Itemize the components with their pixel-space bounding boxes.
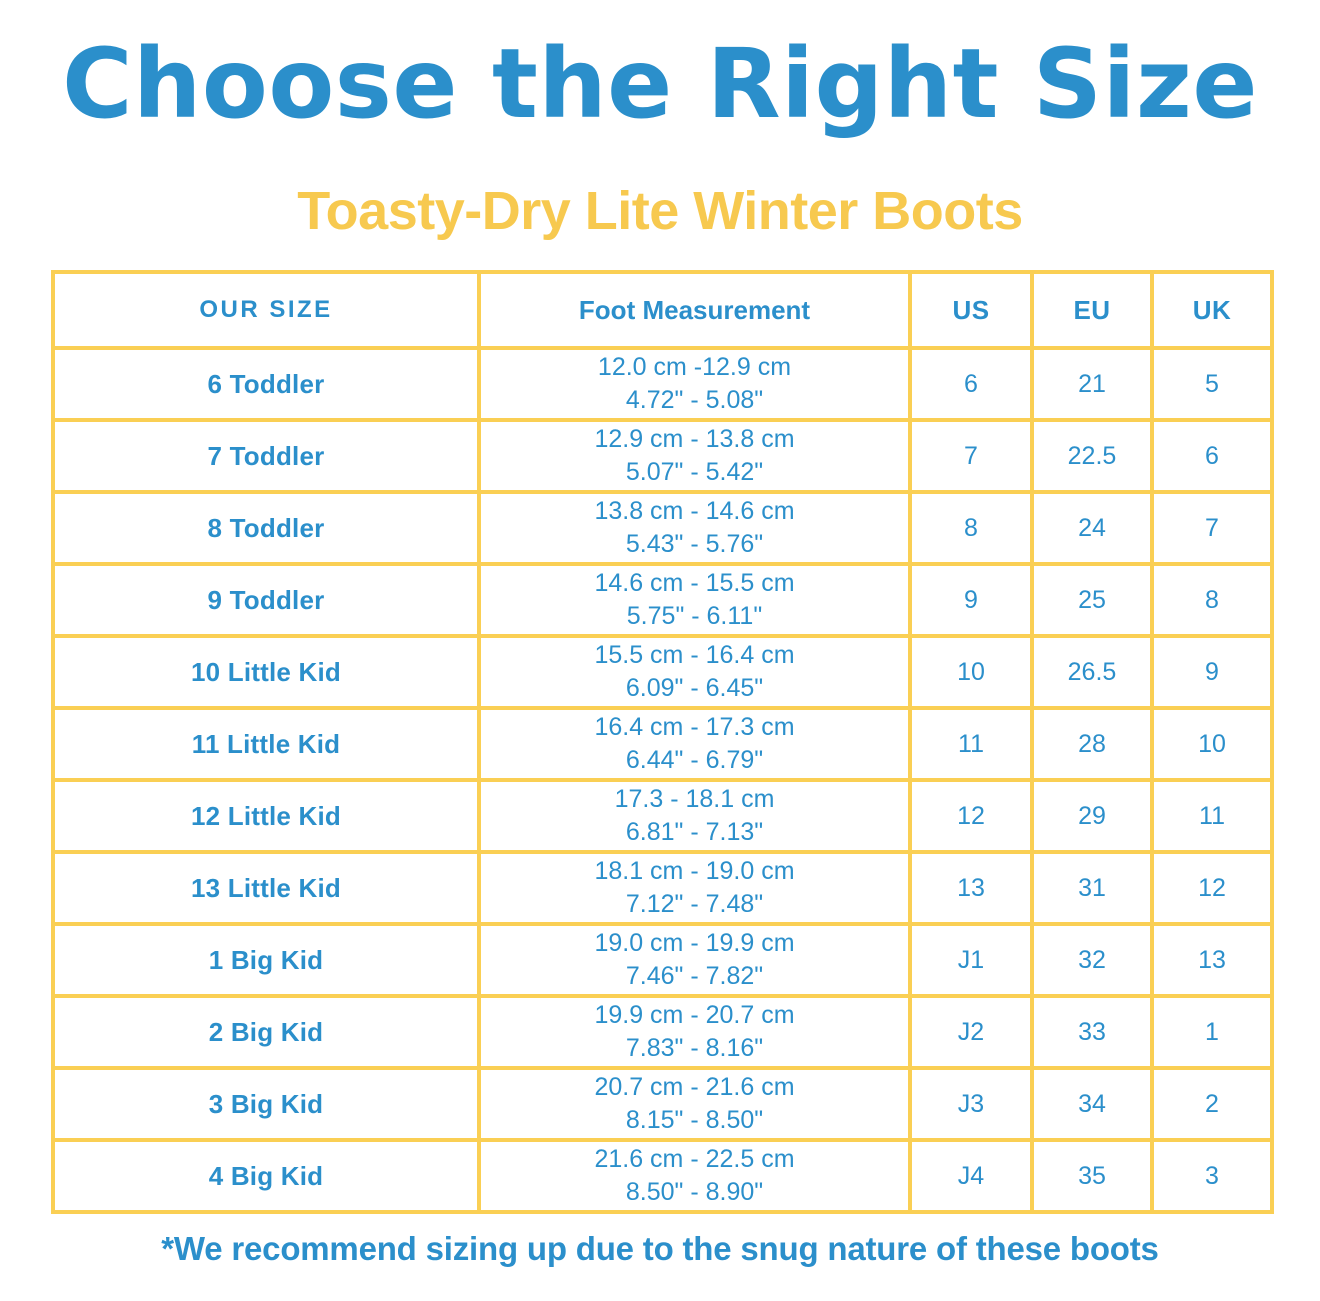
cell-eu-size: 29 xyxy=(1032,780,1152,852)
cell-our-size: 9 Toddler xyxy=(53,564,479,636)
foot-measurement-inches: 6.81" - 7.13" xyxy=(481,816,908,849)
table-row: 9 Toddler14.6 cm - 15.5 cm5.75" - 6.11"9… xyxy=(53,564,1272,636)
cell-our-size: 8 Toddler xyxy=(53,492,479,564)
cell-us-size: 8 xyxy=(910,492,1032,564)
cell-us-size: J2 xyxy=(910,996,1032,1068)
cell-foot-measurement: 19.9 cm - 20.7 cm7.83" - 8.16" xyxy=(479,996,910,1068)
cell-eu-size: 22.5 xyxy=(1032,420,1152,492)
cell-eu-size: 25 xyxy=(1032,564,1152,636)
cell-uk-size: 12 xyxy=(1152,852,1272,924)
cell-foot-measurement: 14.6 cm - 15.5 cm5.75" - 6.11" xyxy=(479,564,910,636)
foot-measurement-cm: 12.9 cm - 13.8 cm xyxy=(481,423,908,456)
foot-measurement-inches: 4.72" - 5.08" xyxy=(481,384,908,417)
cell-us-size: 6 xyxy=(910,348,1032,420)
cell-uk-size: 9 xyxy=(1152,636,1272,708)
product-subtitle: Toasty-Dry Lite Winter Boots xyxy=(0,180,1320,242)
foot-measurement-inches: 7.12" - 7.48" xyxy=(481,888,908,921)
column-header-our-size: OUR SIZE xyxy=(53,272,479,348)
column-header-us: US xyxy=(910,272,1032,348)
cell-uk-size: 2 xyxy=(1152,1068,1272,1140)
table-header: OUR SIZE Foot Measurement US EU UK xyxy=(53,272,1272,348)
cell-foot-measurement: 19.0 cm - 19.9 cm7.46" - 7.82" xyxy=(479,924,910,996)
cell-us-size: 11 xyxy=(910,708,1032,780)
cell-eu-size: 28 xyxy=(1032,708,1152,780)
cell-foot-measurement: 16.4 cm - 17.3 cm6.44" - 6.79" xyxy=(479,708,910,780)
table-header-row: OUR SIZE Foot Measurement US EU UK xyxy=(53,272,1272,348)
foot-measurement-cm: 21.6 cm - 22.5 cm xyxy=(481,1143,908,1176)
foot-measurement-cm: 18.1 cm - 19.0 cm xyxy=(481,855,908,888)
cell-eu-size: 35 xyxy=(1032,1140,1152,1212)
cell-us-size: J3 xyxy=(910,1068,1032,1140)
cell-our-size: 6 Toddler xyxy=(53,348,479,420)
foot-measurement-cm: 14.6 cm - 15.5 cm xyxy=(481,567,908,600)
cell-us-size: J4 xyxy=(910,1140,1032,1212)
column-header-uk: UK xyxy=(1152,272,1272,348)
table-row: 8 Toddler13.8 cm - 14.6 cm5.43" - 5.76"8… xyxy=(53,492,1272,564)
foot-measurement-cm: 19.0 cm - 19.9 cm xyxy=(481,927,908,960)
foot-measurement-cm: 13.8 cm - 14.6 cm xyxy=(481,495,908,528)
page-title: Choose the Right Size xyxy=(0,28,1320,140)
cell-us-size: 13 xyxy=(910,852,1032,924)
column-header-foot-measurement: Foot Measurement xyxy=(479,272,910,348)
table-row: 10 Little Kid15.5 cm - 16.4 cm6.09" - 6.… xyxy=(53,636,1272,708)
foot-measurement-inches: 7.83" - 8.16" xyxy=(481,1032,908,1065)
cell-our-size: 1 Big Kid xyxy=(53,924,479,996)
foot-measurement-inches: 5.07" - 5.42" xyxy=(481,456,908,489)
foot-measurement-cm: 12.0 cm -12.9 cm xyxy=(481,351,908,384)
cell-our-size: 11 Little Kid xyxy=(53,708,479,780)
foot-measurement-inches: 7.46" - 7.82" xyxy=(481,960,908,993)
cell-our-size: 4 Big Kid xyxy=(53,1140,479,1212)
cell-uk-size: 8 xyxy=(1152,564,1272,636)
table-row: 13 Little Kid18.1 cm - 19.0 cm7.12" - 7.… xyxy=(53,852,1272,924)
cell-uk-size: 6 xyxy=(1152,420,1272,492)
cell-eu-size: 26.5 xyxy=(1032,636,1152,708)
table-row: 4 Big Kid21.6 cm - 22.5 cm8.50" - 8.90"J… xyxy=(53,1140,1272,1212)
foot-measurement-cm: 16.4 cm - 17.3 cm xyxy=(481,711,908,744)
cell-our-size: 3 Big Kid xyxy=(53,1068,479,1140)
cell-uk-size: 7 xyxy=(1152,492,1272,564)
cell-eu-size: 34 xyxy=(1032,1068,1152,1140)
table-row: 1 Big Kid19.0 cm - 19.9 cm7.46" - 7.82"J… xyxy=(53,924,1272,996)
cell-us-size: 7 xyxy=(910,420,1032,492)
cell-foot-measurement: 17.3 - 18.1 cm6.81" - 7.13" xyxy=(479,780,910,852)
cell-eu-size: 32 xyxy=(1032,924,1152,996)
cell-uk-size: 13 xyxy=(1152,924,1272,996)
table-row: 11 Little Kid16.4 cm - 17.3 cm6.44" - 6.… xyxy=(53,708,1272,780)
cell-foot-measurement: 12.9 cm - 13.8 cm5.07" - 5.42" xyxy=(479,420,910,492)
cell-eu-size: 31 xyxy=(1032,852,1152,924)
table-body: 6 Toddler12.0 cm -12.9 cm4.72" - 5.08"62… xyxy=(53,348,1272,1212)
column-header-eu: EU xyxy=(1032,272,1152,348)
cell-our-size: 12 Little Kid xyxy=(53,780,479,852)
cell-our-size: 7 Toddler xyxy=(53,420,479,492)
cell-uk-size: 10 xyxy=(1152,708,1272,780)
cell-foot-measurement: 20.7 cm - 21.6 cm8.15" - 8.50" xyxy=(479,1068,910,1140)
cell-foot-measurement: 21.6 cm - 22.5 cm8.50" - 8.90" xyxy=(479,1140,910,1212)
size-chart-page: Choose the Right Size Toasty-Dry Lite Wi… xyxy=(0,0,1320,1301)
size-table-container: OUR SIZE Foot Measurement US EU UK 6 Tod… xyxy=(51,270,1270,1214)
foot-measurement-inches: 5.43" - 5.76" xyxy=(481,528,908,561)
cell-eu-size: 24 xyxy=(1032,492,1152,564)
cell-uk-size: 1 xyxy=(1152,996,1272,1068)
foot-measurement-inches: 8.15" - 8.50" xyxy=(481,1104,908,1137)
cell-our-size: 13 Little Kid xyxy=(53,852,479,924)
cell-uk-size: 5 xyxy=(1152,348,1272,420)
cell-foot-measurement: 13.8 cm - 14.6 cm5.43" - 5.76" xyxy=(479,492,910,564)
cell-us-size: 10 xyxy=(910,636,1032,708)
table-row: 3 Big Kid20.7 cm - 21.6 cm8.15" - 8.50"J… xyxy=(53,1068,1272,1140)
table-row: 12 Little Kid17.3 - 18.1 cm6.81" - 7.13"… xyxy=(53,780,1272,852)
cell-eu-size: 33 xyxy=(1032,996,1152,1068)
foot-measurement-cm: 19.9 cm - 20.7 cm xyxy=(481,999,908,1032)
foot-measurement-cm: 15.5 cm - 16.4 cm xyxy=(481,639,908,672)
cell-us-size: J1 xyxy=(910,924,1032,996)
cell-our-size: 10 Little Kid xyxy=(53,636,479,708)
cell-foot-measurement: 18.1 cm - 19.0 cm7.12" - 7.48" xyxy=(479,852,910,924)
cell-foot-measurement: 12.0 cm -12.9 cm4.72" - 5.08" xyxy=(479,348,910,420)
cell-uk-size: 11 xyxy=(1152,780,1272,852)
foot-measurement-cm: 17.3 - 18.1 cm xyxy=(481,783,908,816)
table-row: 6 Toddler12.0 cm -12.9 cm4.72" - 5.08"62… xyxy=(53,348,1272,420)
table-row: 7 Toddler12.9 cm - 13.8 cm5.07" - 5.42"7… xyxy=(53,420,1272,492)
table-row: 2 Big Kid19.9 cm - 20.7 cm7.83" - 8.16"J… xyxy=(53,996,1272,1068)
size-table: OUR SIZE Foot Measurement US EU UK 6 Tod… xyxy=(51,270,1274,1214)
foot-measurement-inches: 8.50" - 8.90" xyxy=(481,1176,908,1209)
cell-our-size: 2 Big Kid xyxy=(53,996,479,1068)
cell-foot-measurement: 15.5 cm - 16.4 cm6.09" - 6.45" xyxy=(479,636,910,708)
cell-us-size: 12 xyxy=(910,780,1032,852)
foot-measurement-inches: 6.44" - 6.79" xyxy=(481,744,908,777)
foot-measurement-inches: 6.09" - 6.45" xyxy=(481,672,908,705)
sizing-recommendation-note: *We recommend sizing up due to the snug … xyxy=(0,1228,1320,1270)
foot-measurement-cm: 20.7 cm - 21.6 cm xyxy=(481,1071,908,1104)
cell-us-size: 9 xyxy=(910,564,1032,636)
cell-uk-size: 3 xyxy=(1152,1140,1272,1212)
foot-measurement-inches: 5.75" - 6.11" xyxy=(481,600,908,633)
cell-eu-size: 21 xyxy=(1032,348,1152,420)
